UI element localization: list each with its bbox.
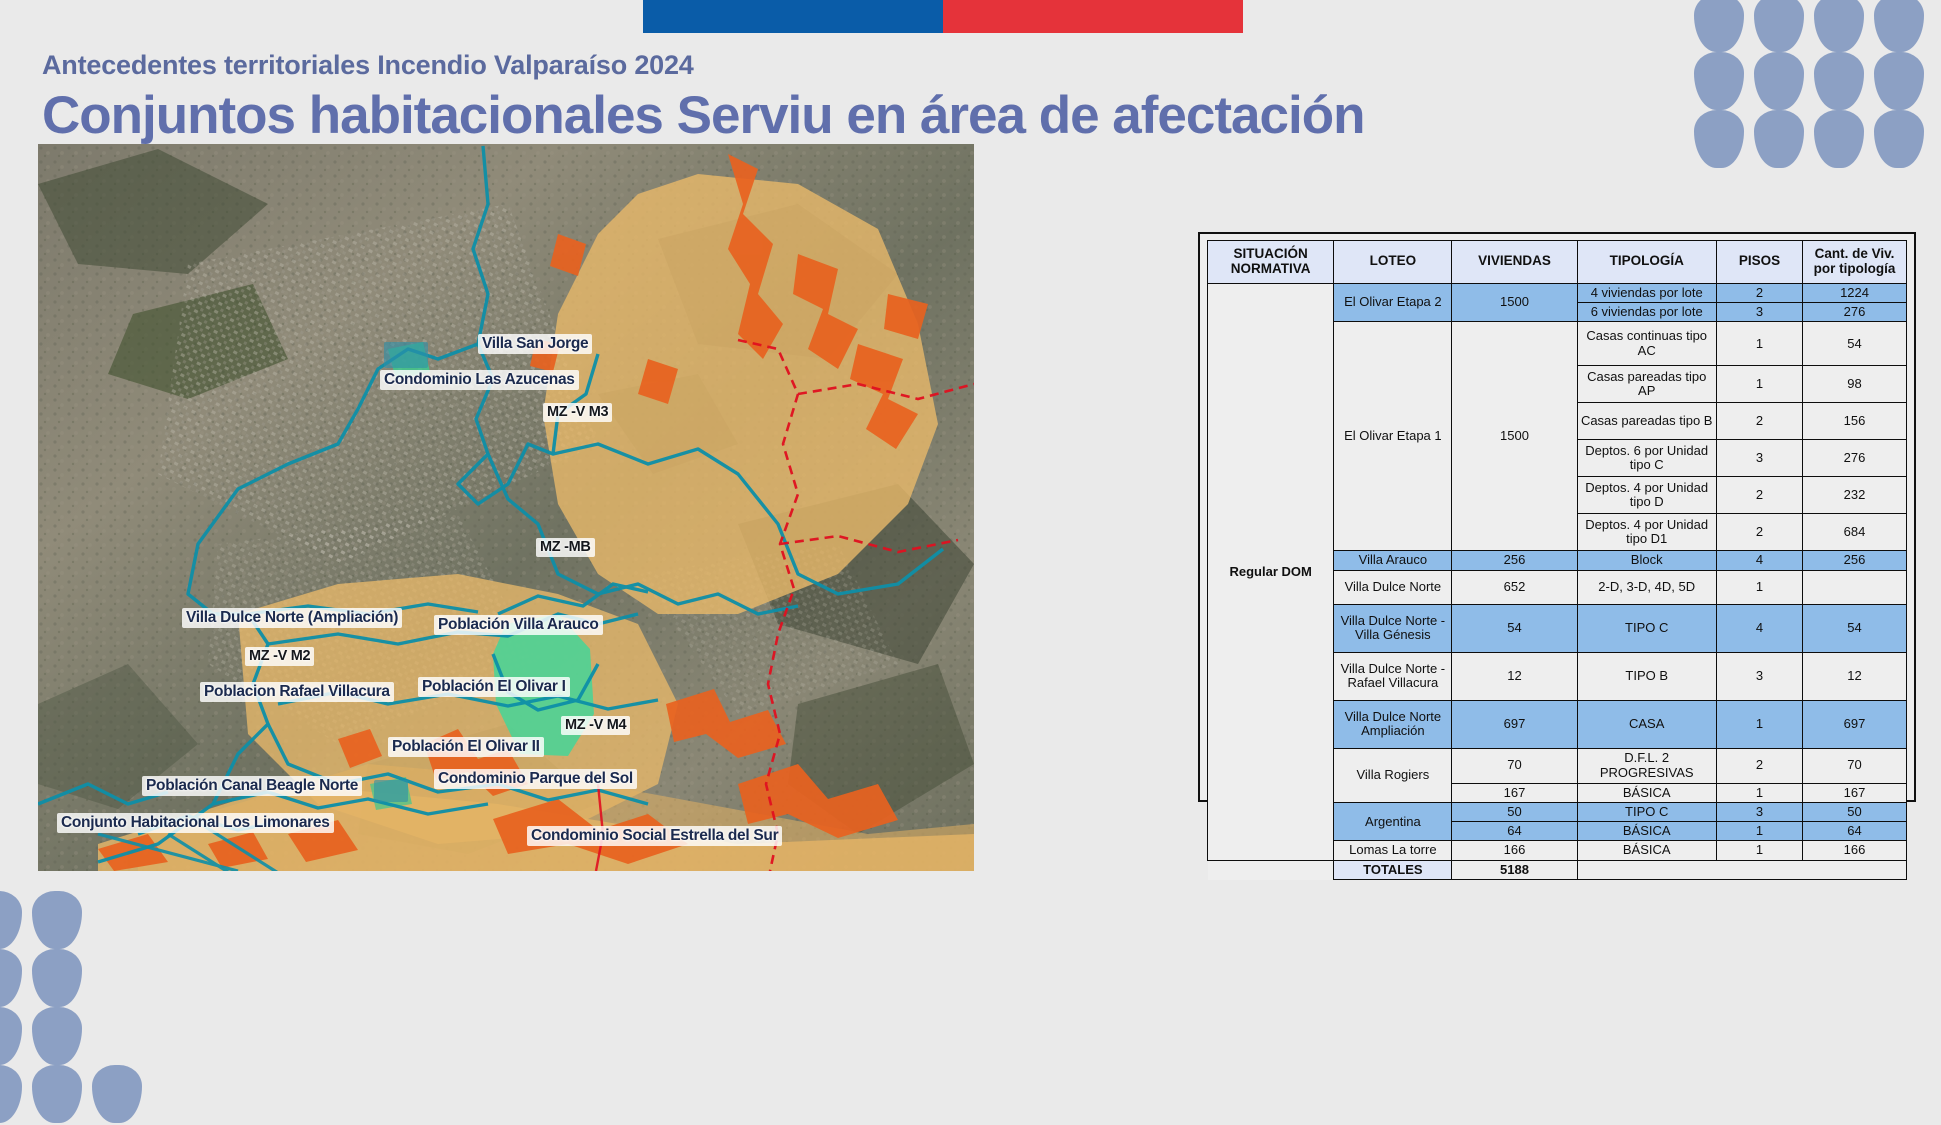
col-loteo: LOTEO [1334, 241, 1452, 284]
cell-pisos: 1 [1716, 700, 1802, 748]
table-body: Regular DOM El Olivar Etapa 2 1500 4 viv… [1208, 283, 1907, 879]
map-label-poblacion-canal-beagle-norte: Población Canal Beagle Norte [142, 776, 362, 796]
map-label-condominio-las-azucenas: Condominio Las Azucenas [380, 370, 579, 390]
cell-tipologia: Casas pareadas tipo AP [1577, 366, 1716, 403]
cell-viviendas: 64 [1452, 822, 1577, 841]
cell-viviendas: 1500 [1452, 283, 1577, 322]
cell-loteo: Argentina [1334, 802, 1452, 841]
cell-cant: 1224 [1803, 283, 1907, 302]
map-image[interactable]: Villa San Jorge Condominio Las Azucenas … [38, 144, 974, 871]
cell-pisos: 1 [1716, 570, 1802, 604]
slide-headline: Conjuntos habitacionales Serviu en área … [42, 85, 1364, 146]
cell-cant: 684 [1803, 514, 1907, 551]
cell-viviendas: 70 [1452, 748, 1577, 783]
map-graphic [38, 144, 974, 871]
cell-pisos: 4 [1716, 604, 1802, 652]
cell-tipologia: Deptos. 6 por Unidad tipo C [1577, 440, 1716, 477]
cell-loteo: Villa Rogiers [1334, 748, 1452, 802]
totals-spacer [1208, 860, 1334, 879]
map-label-poblacion-el-olivar-ii: Población El Olivar II [388, 737, 544, 757]
cell-tipologia: Casas pareadas tipo B [1577, 403, 1716, 440]
cell-pisos: 3 [1716, 802, 1802, 821]
table-row: Regular DOM El Olivar Etapa 2 1500 4 viv… [1208, 283, 1907, 302]
col-cant-viv-tipologia: Cant. de Viv. por tipología [1803, 241, 1907, 284]
cell-pisos: 1 [1716, 822, 1802, 841]
cell-tipologia: BÁSICA [1577, 783, 1716, 802]
map-label-mz-mb: MZ -MB [536, 538, 595, 557]
cell-tipologia: 4 viviendas por lote [1577, 283, 1716, 302]
cell-pisos: 2 [1716, 403, 1802, 440]
cell-loteo: Lomas La torre [1334, 841, 1452, 860]
table-header-row: SITUACIÓN NORMATIVA LOTEO VIVIENDAS TIPO… [1208, 241, 1907, 284]
cell-pisos: 1 [1716, 841, 1802, 860]
cell-tipologia: D.F.L. 2 PROGRESIVAS [1577, 748, 1716, 783]
map-label-villa-san-jorge: Villa San Jorge [478, 334, 592, 354]
col-situacion-normativa: SITUACIÓN NORMATIVA [1208, 241, 1334, 284]
chile-flag-bar [643, 0, 1243, 33]
col-pisos: PISOS [1716, 241, 1802, 284]
slide: Antecedentes territoriales Incendio Valp… [0, 0, 1941, 1125]
cell-cant: 50 [1803, 802, 1907, 821]
cell-pisos: 2 [1716, 514, 1802, 551]
cell-viviendas: 167 [1452, 783, 1577, 802]
cell-loteo: El Olivar Etapa 1 [1334, 322, 1452, 551]
cell-viviendas: 256 [1452, 551, 1577, 570]
cell-pisos: 4 [1716, 551, 1802, 570]
cell-pisos: 1 [1716, 783, 1802, 802]
cell-viviendas: 50 [1452, 802, 1577, 821]
cell-cant: 64 [1803, 822, 1907, 841]
map-label-poblacion-rafael-villacura: Poblacion Rafael Villacura [200, 682, 394, 702]
map-label-poblacion-el-olivar-i: Población El Olivar I [418, 677, 570, 697]
col-tipologia: TIPOLOGÍA [1577, 241, 1716, 284]
totals-empty [1577, 860, 1906, 879]
cell-pisos: 3 [1716, 652, 1802, 700]
cell-tipologia: TIPO B [1577, 652, 1716, 700]
cell-loteo: Villa Dulce Norte Ampliación [1334, 700, 1452, 748]
cell-viviendas: 697 [1452, 700, 1577, 748]
cell-cant: 232 [1803, 477, 1907, 514]
housing-table: SITUACIÓN NORMATIVA LOTEO VIVIENDAS TIPO… [1207, 240, 1907, 880]
flag-blue-block [643, 0, 943, 33]
map-label-villa-dulce-norte-ampliacion: Villa Dulce Norte (Ampliación) [182, 608, 402, 628]
cell-pisos: 1 [1716, 366, 1802, 403]
cell-tipologia: BÁSICA [1577, 841, 1716, 860]
cell-cant: 54 [1803, 604, 1907, 652]
map-label-conjunto-habitacional-los-limonares: Conjunto Habitacional Los Limonares [57, 813, 334, 833]
cell-cant: 276 [1803, 302, 1907, 321]
cell-loteo: Villa Arauco [1334, 551, 1452, 570]
cell-tipologia: CASA [1577, 700, 1716, 748]
cell-loteo: Villa Dulce Norte -Rafael Villacura [1334, 652, 1452, 700]
map-label-poblacion-villa-arauco: Población Villa Arauco [434, 615, 603, 635]
totals-value: 5188 [1452, 860, 1577, 879]
cell-loteo: Villa Dulce Norte - Villa Génesis [1334, 604, 1452, 652]
cell-viviendas: 1500 [1452, 322, 1577, 551]
cell-cant: 166 [1803, 841, 1907, 860]
slide-kicker: Antecedentes territoriales Incendio Valp… [42, 50, 694, 81]
map-label-mz-v-m2: MZ -V M2 [245, 647, 314, 666]
map-label-mz-v-m4: MZ -V M4 [561, 716, 630, 735]
flag-red-block [943, 0, 1243, 33]
cell-viviendas: 652 [1452, 570, 1577, 604]
cell-pisos: 1 [1716, 322, 1802, 366]
cell-pisos: 3 [1716, 302, 1802, 321]
table-totals-row: TOTALES 5188 [1208, 860, 1907, 879]
cell-viviendas: 166 [1452, 841, 1577, 860]
cell-pisos: 2 [1716, 283, 1802, 302]
cell-cant: 697 [1803, 700, 1907, 748]
map-label-condominio-parque-del-sol: Condominio Parque del Sol [434, 769, 637, 789]
cell-loteo: Villa Dulce Norte [1334, 570, 1452, 604]
decorative-teardrops-bottom-left [0, 889, 157, 1125]
cell-tipologia: TIPO C [1577, 604, 1716, 652]
cell-pisos: 3 [1716, 440, 1802, 477]
cell-tipologia: Deptos. 4 por Unidad tipo D1 [1577, 514, 1716, 551]
cell-tipologia: TIPO C [1577, 802, 1716, 821]
cell-cant: 256 [1803, 551, 1907, 570]
cell-cant: 167 [1803, 783, 1907, 802]
map-label-mz-v-m3: MZ -V M3 [543, 403, 612, 422]
cell-cant: 276 [1803, 440, 1907, 477]
cell-cant: 12 [1803, 652, 1907, 700]
cell-pisos: 2 [1716, 477, 1802, 514]
cell-viviendas: 54 [1452, 604, 1577, 652]
cell-tipologia: 2-D, 3-D, 4D, 5D [1577, 570, 1716, 604]
cell-tipologia: BÁSICA [1577, 822, 1716, 841]
cell-cant: 156 [1803, 403, 1907, 440]
totals-label: TOTALES [1334, 860, 1452, 879]
cell-tipologia: Deptos. 4 por Unidad tipo D [1577, 477, 1716, 514]
housing-table-wrapper: SITUACIÓN NORMATIVA LOTEO VIVIENDAS TIPO… [1207, 240, 1907, 880]
cell-viviendas: 12 [1452, 652, 1577, 700]
col-viviendas: VIVIENDAS [1452, 241, 1577, 284]
cell-tipologia: Block [1577, 551, 1716, 570]
cell-tipologia: 6 viviendas por lote [1577, 302, 1716, 321]
cell-cant [1803, 570, 1907, 604]
cell-tipologia: Casas continuas tipo AC [1577, 322, 1716, 366]
cell-pisos: 2 [1716, 748, 1802, 783]
cell-situacion-normativa: Regular DOM [1208, 283, 1334, 860]
cell-cant: 98 [1803, 366, 1907, 403]
cell-cant: 70 [1803, 748, 1907, 783]
map-label-condominio-social-estrella-del-sur: Condominio Social Estrella del Sur [527, 826, 782, 846]
cell-cant: 54 [1803, 322, 1907, 366]
decorative-teardrops-top-right [1686, 0, 1941, 175]
cell-loteo: El Olivar Etapa 2 [1334, 283, 1452, 322]
